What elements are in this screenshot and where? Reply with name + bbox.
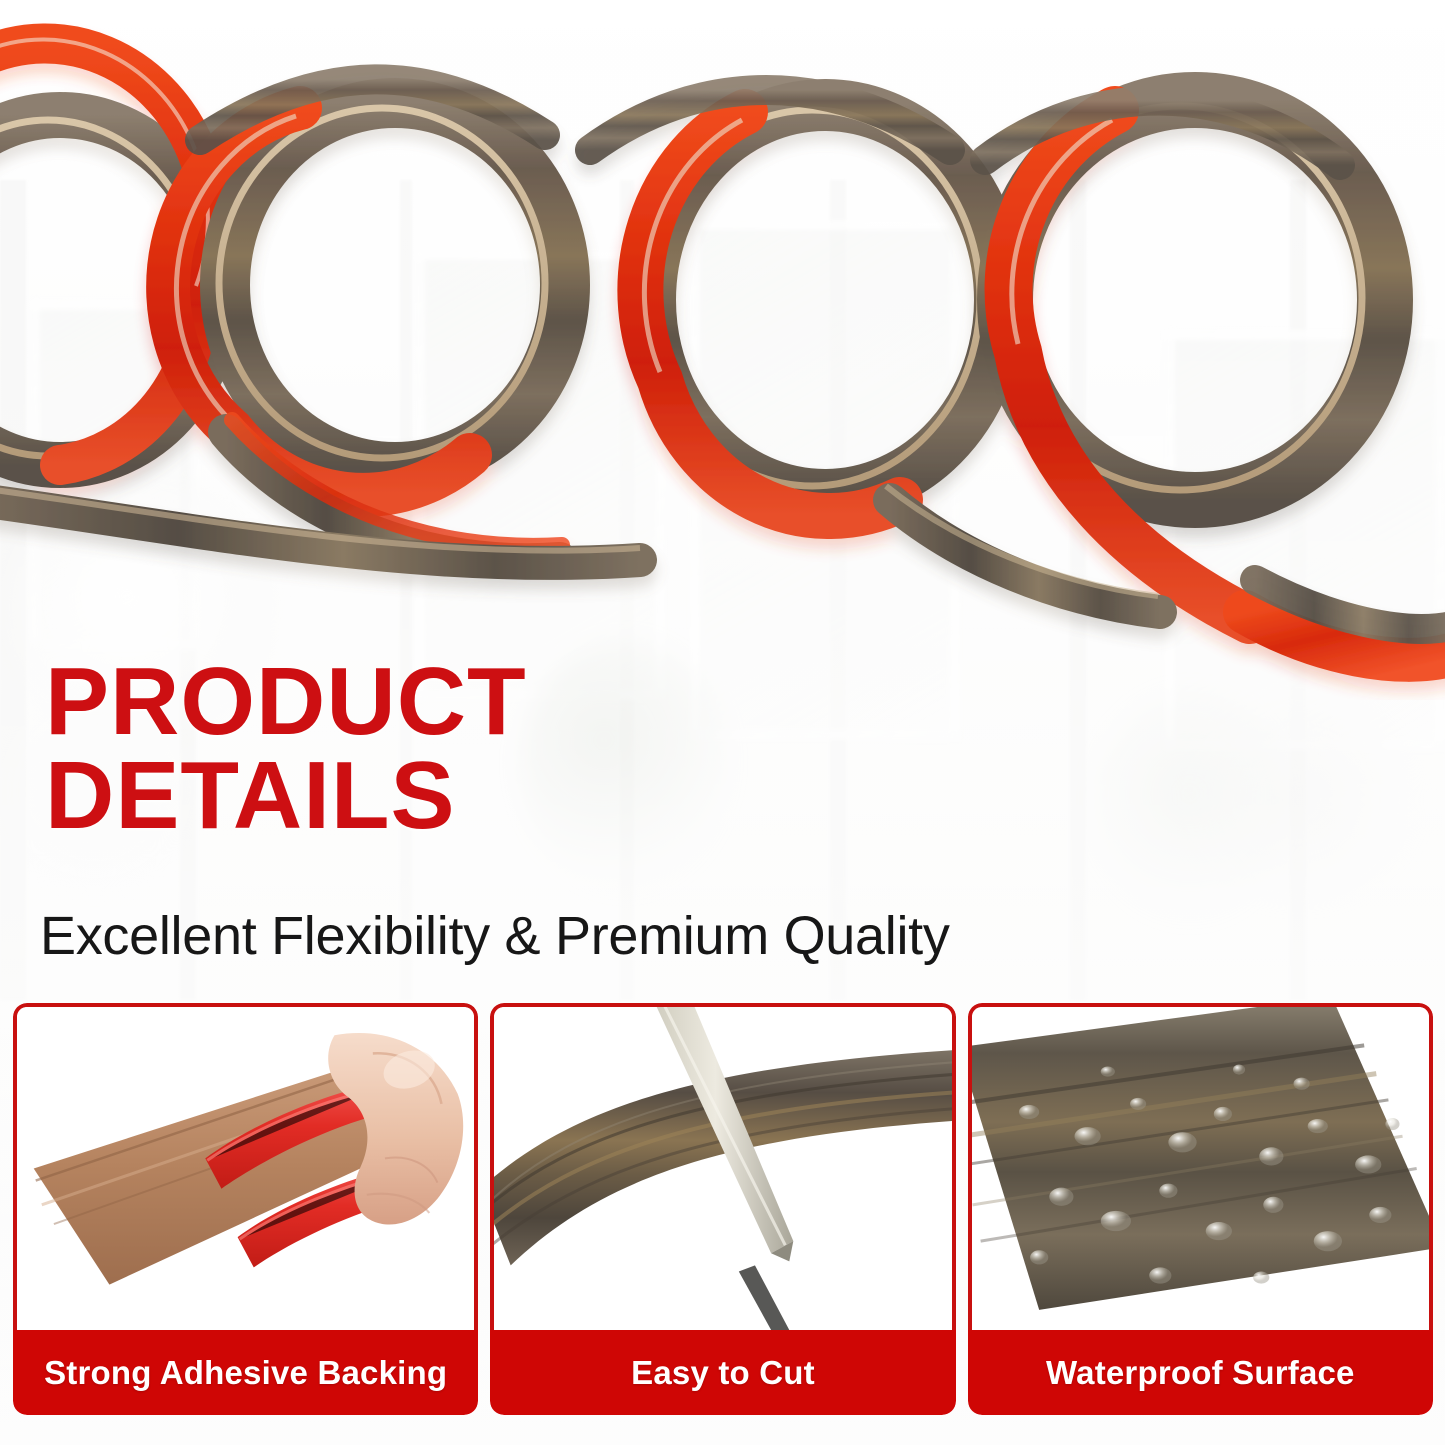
adhesive-backing-photo: [13, 1003, 478, 1330]
feature-panel-waterproof[interactable]: Waterproof Surface: [968, 1003, 1433, 1415]
coil-3: [640, 105, 1000, 516]
easy-to-cut-photo: [490, 1003, 955, 1330]
hero-illustration: [0, 0, 1445, 700]
panel-caption-adhesive: Strong Adhesive Backing: [13, 1330, 478, 1415]
panel-caption-cut: Easy to Cut: [490, 1330, 955, 1415]
coil-2: [168, 103, 565, 561]
waterproof-surface-photo: [968, 1003, 1433, 1330]
headline-block: PRODUCT DETAILS: [45, 655, 1195, 843]
subheadline: Excellent Flexibility & Premium Quality: [40, 905, 950, 967]
feature-panel-cut[interactable]: Easy to Cut: [490, 1003, 955, 1415]
product-details-image: PRODUCT DETAILS Excellent Flexibility & …: [0, 0, 1445, 1445]
headline-line-1: PRODUCT: [45, 655, 1195, 749]
panel-caption-waterproof: Waterproof Surface: [968, 1330, 1433, 1415]
hero-coiled-tape: [0, 0, 1445, 700]
headline-line-2: DETAILS: [45, 749, 1195, 843]
feature-panel-adhesive[interactable]: Strong Adhesive Backing: [13, 1003, 478, 1415]
feature-panels: Strong Adhesive Backing: [13, 1003, 1433, 1415]
